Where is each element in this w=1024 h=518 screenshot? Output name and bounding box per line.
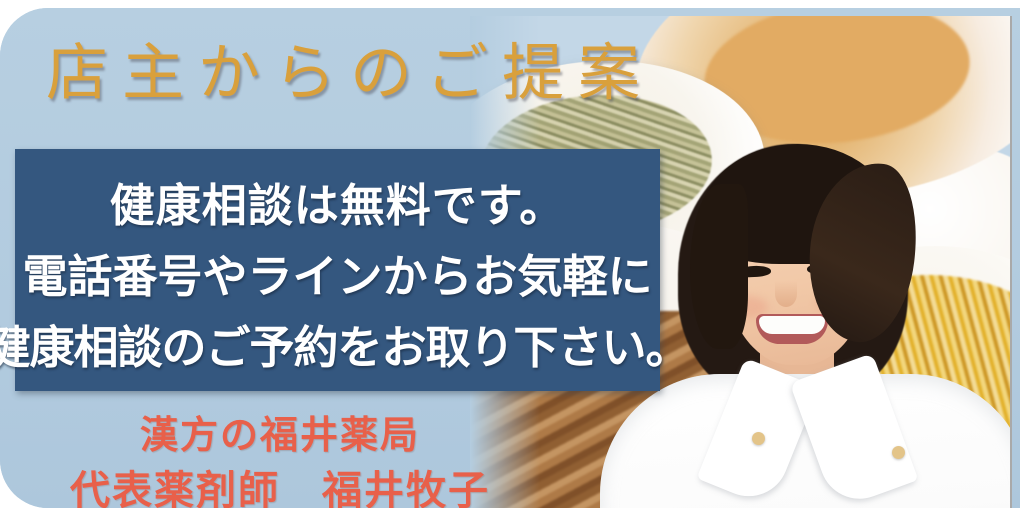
message-box: 健康相談は無料です。 電話番号やラインからお気軽に 健康相談のご予約をお取り下さ… bbox=[15, 149, 660, 391]
shop-name: 漢方の福井薬局 bbox=[0, 404, 560, 459]
nose bbox=[775, 281, 797, 307]
coat-button-right bbox=[892, 446, 905, 459]
pharmacist-portrait bbox=[660, 136, 990, 508]
message-line-3: 健康相談のご予約をお取り下さい。 bbox=[0, 311, 690, 376]
teeth bbox=[759, 316, 825, 334]
hair-side-left bbox=[690, 184, 748, 349]
pharmacist-name: 代表薬剤師 福井牧子 bbox=[0, 458, 560, 508]
coat-button-left bbox=[752, 432, 765, 445]
mouth-smiling bbox=[756, 314, 828, 344]
page-title: 店主からのご提案 bbox=[46, 42, 654, 107]
banner-card: 店主からのご提案 健康相談は無料です。 電話番号やラインからお気軽に 健康相談の… bbox=[0, 8, 1020, 508]
message-line-2: 電話番号やラインからお気軽に bbox=[22, 240, 652, 305]
promotional-banner: 店主からのご提案 健康相談は無料です。 電話番号やラインからお気軽に 健康相談の… bbox=[0, 0, 1024, 518]
message-line-1: 健康相談は無料です。 bbox=[110, 169, 566, 234]
